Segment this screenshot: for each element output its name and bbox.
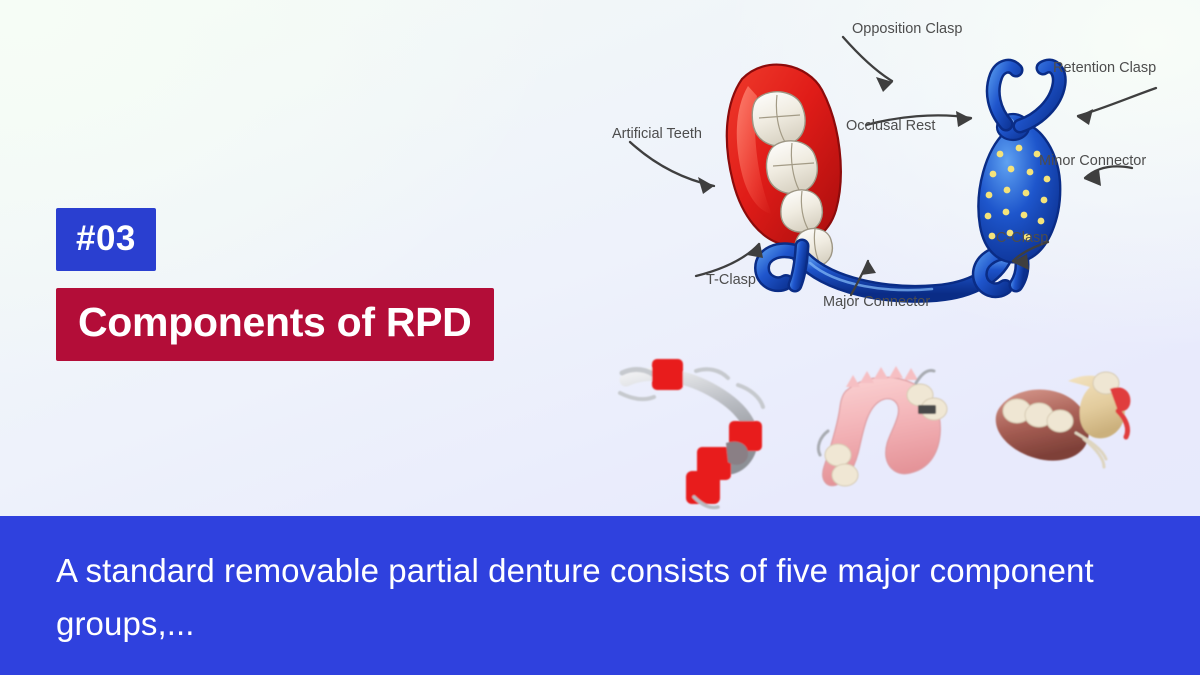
photo-cast-partial-denture xyxy=(996,372,1131,467)
label-opposition-clasp: Opposition Clasp xyxy=(852,21,962,37)
slide-root: Artificial Teeth Opposition Clasp Retent… xyxy=(0,0,1200,675)
photo-acrylic-flexible-rpd xyxy=(818,366,947,486)
denture-photo-strip xyxy=(598,345,1200,510)
section-number-badge: #03 xyxy=(56,208,156,271)
title-block: #03 Components of RPD xyxy=(56,208,576,361)
page-title: Components of RPD xyxy=(56,288,494,361)
label-retention-clasp: Retention Clasp xyxy=(1053,60,1156,76)
caption-bar: A standard removable partial denture con… xyxy=(0,516,1200,675)
label-c-clasp: C-Clasp xyxy=(996,230,1048,246)
label-occlusal-rest: Occlusal Rest xyxy=(846,118,935,134)
photo-metal-framework-rpd xyxy=(620,359,763,508)
label-major-connector: Major Connector xyxy=(823,294,930,310)
artificial-teeth-saddle xyxy=(727,65,841,267)
caption-text: A standard removable partial denture con… xyxy=(56,544,1146,651)
t-clasp xyxy=(762,246,802,285)
label-artificial-teeth: Artificial Teeth xyxy=(612,126,702,142)
label-t-clasp: T-Clasp xyxy=(706,272,756,288)
label-minor-connector: Minor Connector xyxy=(1039,153,1146,169)
rpd-anatomy-diagram: Artificial Teeth Opposition Clasp Retent… xyxy=(596,14,1200,344)
